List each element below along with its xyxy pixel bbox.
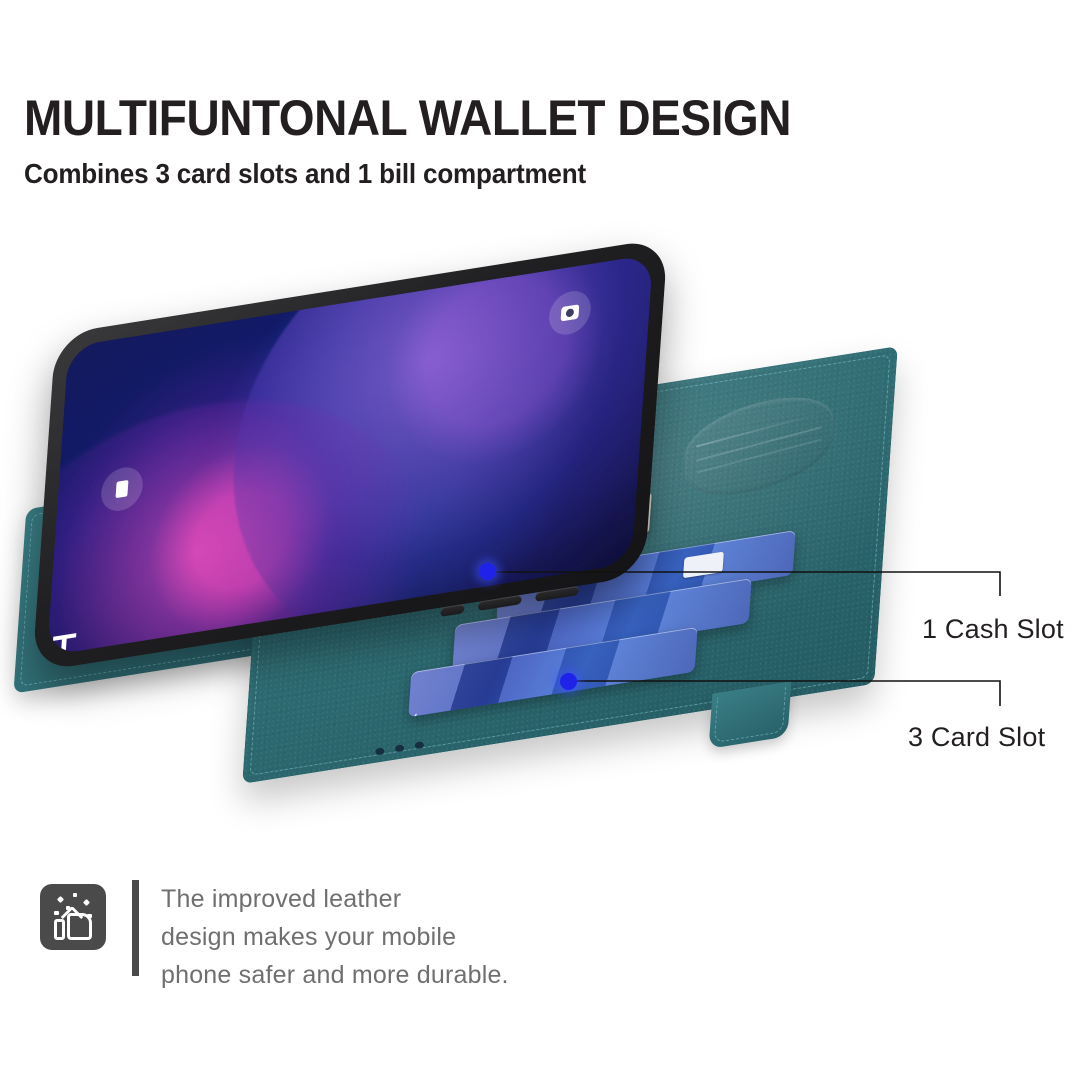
lock-time: 10:08 (47, 620, 94, 656)
page-title: MULTIFUNTONAL WALLET DESIGN (24, 92, 944, 145)
product-scene: 95 20 AME 78 AME 78 Tuesday september 12… (0, 250, 1080, 850)
card-chip (683, 551, 724, 578)
heading-block: MULTIFUNTONAL WALLET DESIGN Combines 3 c… (24, 92, 1024, 190)
thumbs-up-sparkle-icon (40, 884, 106, 950)
feature-divider (132, 880, 139, 976)
page-subtitle: Combines 3 card slots and 1 bill compart… (24, 158, 954, 190)
feature-text: The improved leather design makes your m… (161, 880, 509, 994)
feature-block: The improved leather design makes your m… (40, 880, 509, 994)
lock-screen-info: Tuesday september 12 10:08 (47, 620, 94, 656)
magnetic-closure-tab (709, 681, 792, 749)
feature-line: design makes your mobile (161, 918, 509, 956)
feature-line: The improved leather (161, 880, 509, 918)
feature-line: phone safer and more durable. (161, 956, 509, 994)
